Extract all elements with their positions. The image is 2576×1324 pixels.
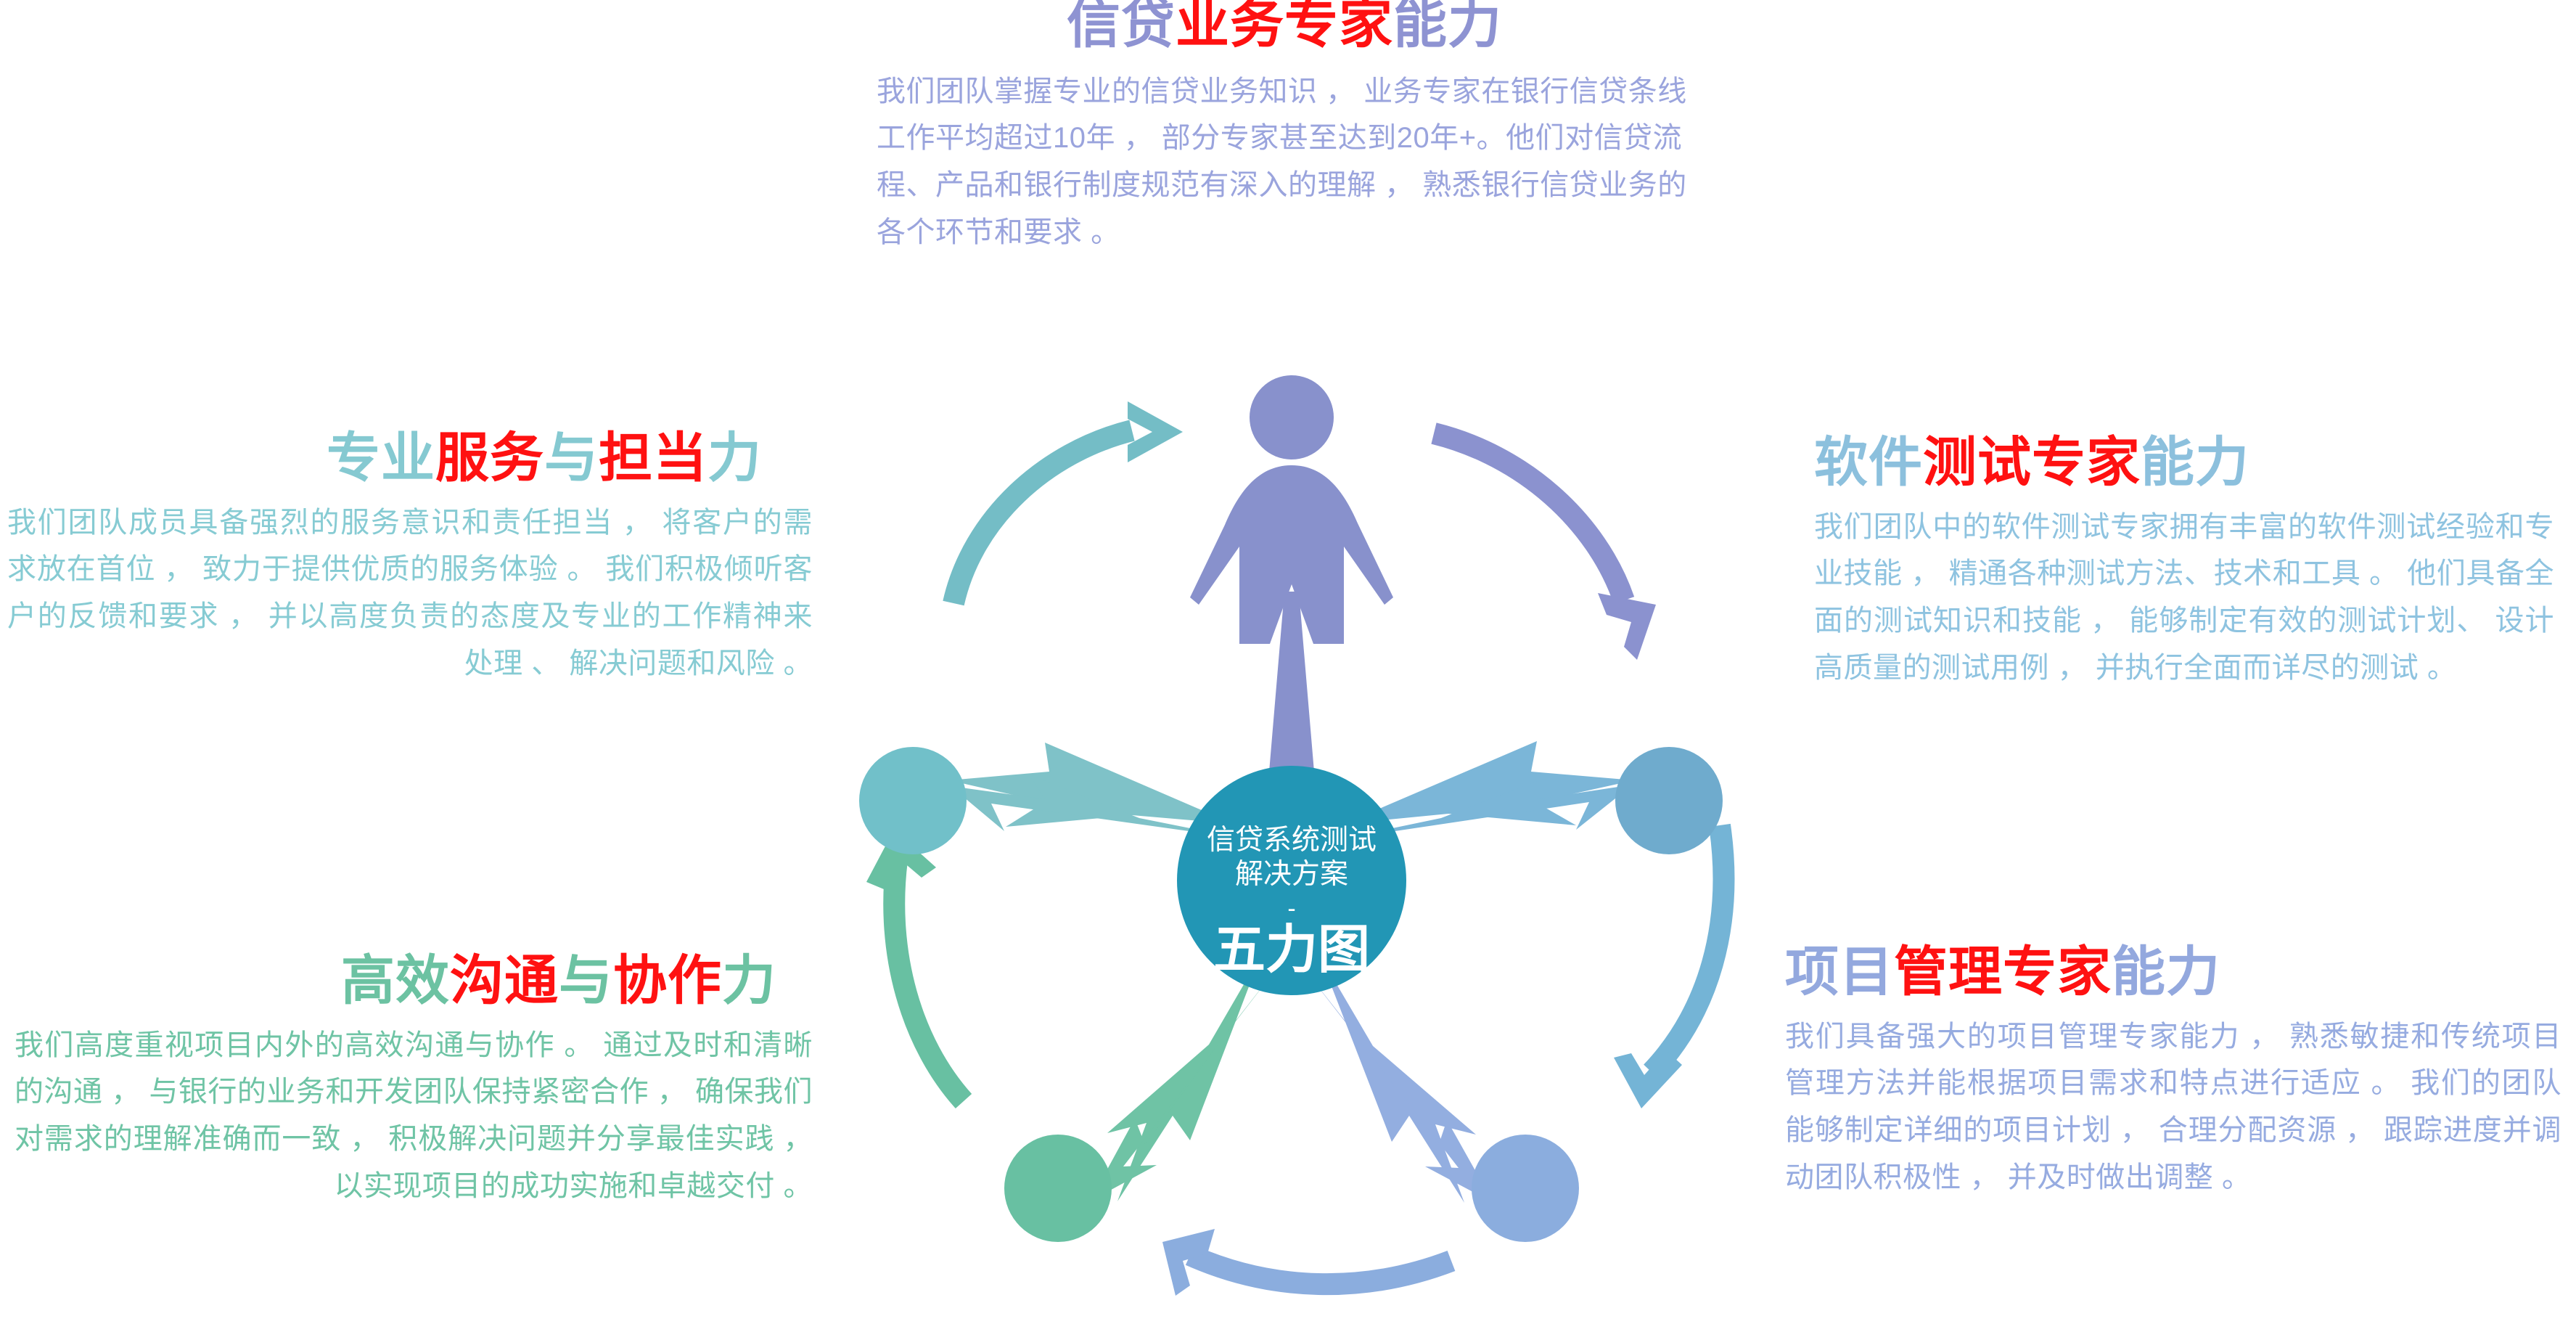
arc-arrow-right-to-bottom-right bbox=[1614, 825, 1723, 1108]
section-software-testing-expert: 软件测试专家能力 我们团队中的软件测试专家拥有丰富的软件测试经验和专业技能 ， … bbox=[1771, 434, 2576, 692]
title-segment-highlight: 管理专家 bbox=[1894, 941, 2112, 1002]
infographic-canvas: 信贷业务专家能力 我们团队掌握专业的信贷业务知识 ， 业务专家在银行信贷条线工作… bbox=[0, 0, 2576, 1324]
title-segment: 能力 bbox=[1393, 0, 1502, 54]
five-forces-diagram: 信贷系统测试 解决方案 - 五力图 bbox=[827, 374, 1756, 1324]
title-segment: 与 bbox=[559, 950, 613, 1010]
title-segment: 项目 bbox=[1785, 941, 1894, 1002]
section-title-professional-service: 专业服务与担当力 bbox=[0, 430, 827, 486]
node-bottom-left[interactable] bbox=[1004, 1135, 1112, 1242]
section-project-management-expert: 项目管理专家能力 我们具备强大的项目管理专家能力 ， 熟悉敏捷和传统项目管理方法… bbox=[1756, 944, 2576, 1201]
title-segment: 高效 bbox=[341, 950, 450, 1010]
arc-arrow-left-to-top bbox=[953, 401, 1183, 603]
section-body-project-management-expert: 我们具备强大的项目管理专家能力 ， 熟悉敏捷和传统项目管理方法并能根据项目需求和… bbox=[1756, 1013, 2576, 1201]
title-segment: 能力 bbox=[2141, 432, 2249, 492]
star-arrow-center-to-bottom-left bbox=[1090, 955, 1283, 1201]
title-segment: 信贷 bbox=[1067, 0, 1176, 54]
center-line-1: 信贷系统测试 bbox=[1207, 825, 1377, 856]
title-segment-highlight: 业务专家 bbox=[1176, 0, 1393, 54]
node-bottom-right[interactable] bbox=[1472, 1135, 1579, 1242]
star-arrow-center-to-bottom-right bbox=[1297, 955, 1493, 1203]
center-divider: - bbox=[1287, 895, 1295, 923]
title-segment: 能力 bbox=[2112, 941, 2220, 1002]
title-segment-highlight: 担当 bbox=[599, 428, 707, 488]
center-line-2: 解决方案 bbox=[1235, 859, 1348, 890]
section-body-communication-collaboration: 我们高度重视项目内外的高效沟通与协作 。 通过及时和清晰的沟通 ， 与银行的业务… bbox=[0, 1022, 842, 1210]
title-segment-highlight: 测试专家 bbox=[1923, 432, 2141, 492]
node-right[interactable] bbox=[1615, 747, 1723, 854]
title-segment-highlight: 服务 bbox=[435, 428, 544, 488]
section-body-software-testing-expert: 我们团队中的软件测试专家拥有丰富的软件测试经验和专业技能 ， 精通各种测试方法、… bbox=[1771, 504, 2576, 692]
title-segment: 软件 bbox=[1814, 432, 1923, 492]
title-segment-highlight: 协作 bbox=[613, 950, 722, 1010]
section-communication-collaboration: 高效沟通与协作力 我们高度重视项目内外的高效沟通与协作 。 通过及时和清晰的沟通… bbox=[0, 952, 842, 1210]
section-body-credit-business-expert: 我们团队掌握专业的信贷业务知识 ， 业务专家在银行信贷条线工作平均超过10年 ，… bbox=[856, 68, 1712, 256]
section-body-professional-service: 我们团队成员具备强烈的服务意识和责任担当 ， 将客户的需求放在首位 ， 致力于提… bbox=[0, 499, 827, 687]
section-credit-business-expert: 信贷业务专家能力 我们团队掌握专业的信贷业务知识 ， 业务专家在银行信贷条线工作… bbox=[856, 0, 1712, 256]
title-segment: 力 bbox=[707, 428, 762, 488]
title-segment-highlight: 沟通 bbox=[450, 950, 559, 1010]
section-title-credit-business-expert: 信贷业务专家能力 bbox=[856, 0, 1712, 52]
arc-arrow-bottom-right-to-bottom-left bbox=[1162, 1229, 1451, 1296]
section-title-software-testing-expert: 软件测试专家能力 bbox=[1771, 434, 2576, 491]
title-segment: 专业 bbox=[327, 428, 435, 488]
center-headline: 五力图 bbox=[1213, 921, 1370, 979]
arc-arrow-bottom-left-to-left bbox=[866, 830, 964, 1101]
title-segment: 与 bbox=[544, 428, 599, 488]
arc-arrow-top-to-right bbox=[1434, 433, 1656, 660]
section-professional-service: 专业服务与担当力 我们团队成员具备强烈的服务意识和责任担当 ， 将客户的需求放在… bbox=[0, 430, 827, 687]
title-segment: 力 bbox=[722, 950, 776, 1010]
node-left[interactable] bbox=[859, 747, 967, 854]
section-title-project-management-expert: 项目管理专家能力 bbox=[1756, 944, 2576, 1000]
section-title-communication-collaboration: 高效沟通与协作力 bbox=[0, 952, 842, 1009]
